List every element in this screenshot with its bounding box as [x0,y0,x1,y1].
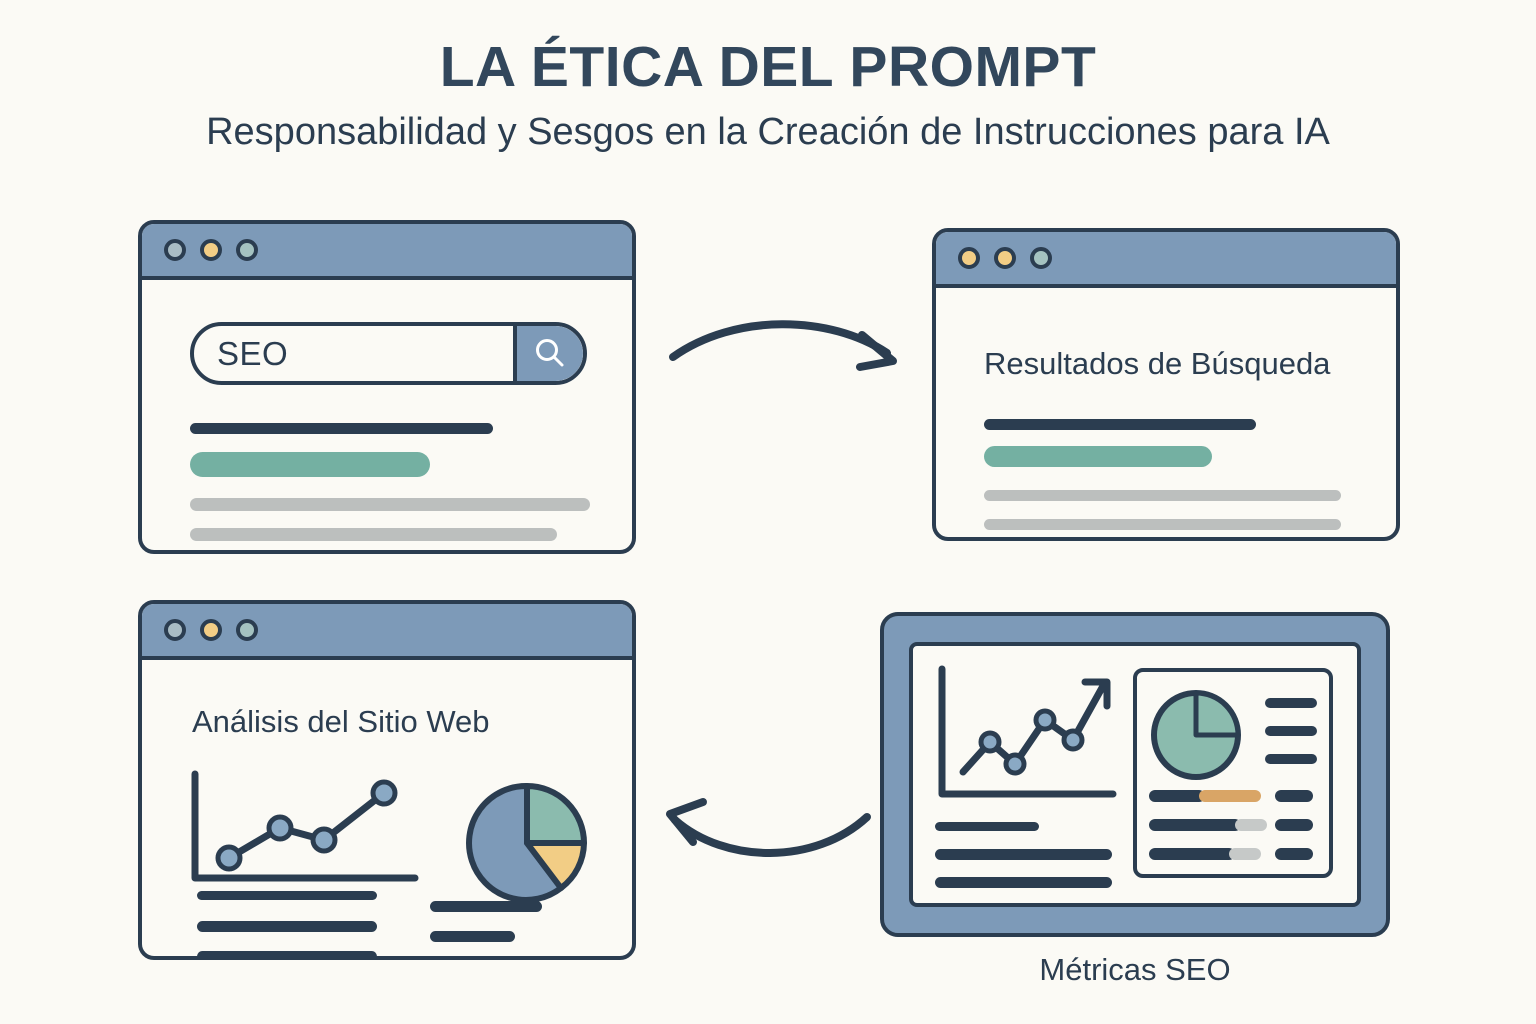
content-bar [984,519,1341,530]
progress-bar-remainder [1199,790,1261,802]
window-dot-minimize-icon[interactable] [994,247,1016,269]
content-bar [430,901,542,912]
content-bar [190,528,557,541]
progress-bar-filled [1149,819,1241,831]
progress-bar-filled [1149,790,1205,802]
window-dot-close-icon[interactable] [164,239,186,261]
seo-metrics-monitor[interactable] [880,612,1390,937]
monitor-caption: Métricas SEO [880,952,1390,988]
progress-bar-filled [1149,848,1235,860]
search-bar[interactable]: SEO [190,322,587,385]
window-titlebar [142,224,632,280]
content-bar [1275,848,1313,860]
content-bar [1265,726,1317,736]
content-bar [197,951,377,960]
content-bar [190,423,493,434]
arrow-search-to-results [665,305,915,395]
progress-bar-remainder [1229,848,1261,860]
content-bar-highlight [984,446,1212,467]
progress-bar-remainder [1235,819,1267,831]
content-bar [1265,754,1317,764]
window-dot-minimize-icon[interactable] [200,619,222,641]
window-titlebar [142,604,632,660]
window-titlebar [936,232,1396,288]
content-bar [984,419,1256,430]
window-dot-close-icon[interactable] [958,247,980,269]
search-button[interactable] [513,326,583,381]
analytics-line-chart [187,768,427,893]
search-input[interactable]: SEO [194,335,513,373]
window-dot-maximize-icon[interactable] [1030,247,1052,269]
content-bar [935,849,1112,860]
page-header: LA ÉTICA DEL PROMPT Responsabilidad y Se… [0,36,1536,157]
window-body: Resultados de Búsqueda [936,288,1396,537]
window-dot-maximize-icon[interactable] [236,619,258,641]
content-bar [190,498,590,511]
magnifier-icon [531,335,569,373]
page-title: LA ÉTICA DEL PROMPT [0,36,1536,99]
metrics-pie-chart [1149,688,1243,782]
monitor-screen [909,642,1361,907]
content-bar [1275,790,1313,802]
metrics-panel [1133,668,1333,878]
window-body: SEO [142,280,632,550]
site-analytics-window[interactable]: Análisis del Sitio Web [138,600,636,960]
content-bar [1275,819,1313,831]
window-dot-maximize-icon[interactable] [236,239,258,261]
content-bar [1265,698,1317,708]
content-bar [197,921,377,932]
analytics-pie-chart [464,780,590,906]
arrow-metrics-to-analytics [655,780,885,870]
window-dot-close-icon[interactable] [164,619,186,641]
metrics-trend-chart [935,664,1120,809]
content-bar-highlight [190,452,430,477]
window-dot-minimize-icon[interactable] [200,239,222,261]
results-heading: Resultados de Búsqueda [984,346,1330,382]
page-subtitle: Responsabilidad y Sesgos en la Creación … [153,107,1383,157]
analytics-heading: Análisis del Sitio Web [192,704,490,740]
content-bar [430,931,515,942]
content-bar [935,822,1039,831]
browser-search-window[interactable]: SEO [138,220,636,554]
content-bar [984,490,1341,501]
content-bar [197,891,377,900]
search-results-window[interactable]: Resultados de Búsqueda [932,228,1400,541]
content-bar [935,877,1112,888]
window-body: Análisis del Sitio Web [142,660,632,956]
